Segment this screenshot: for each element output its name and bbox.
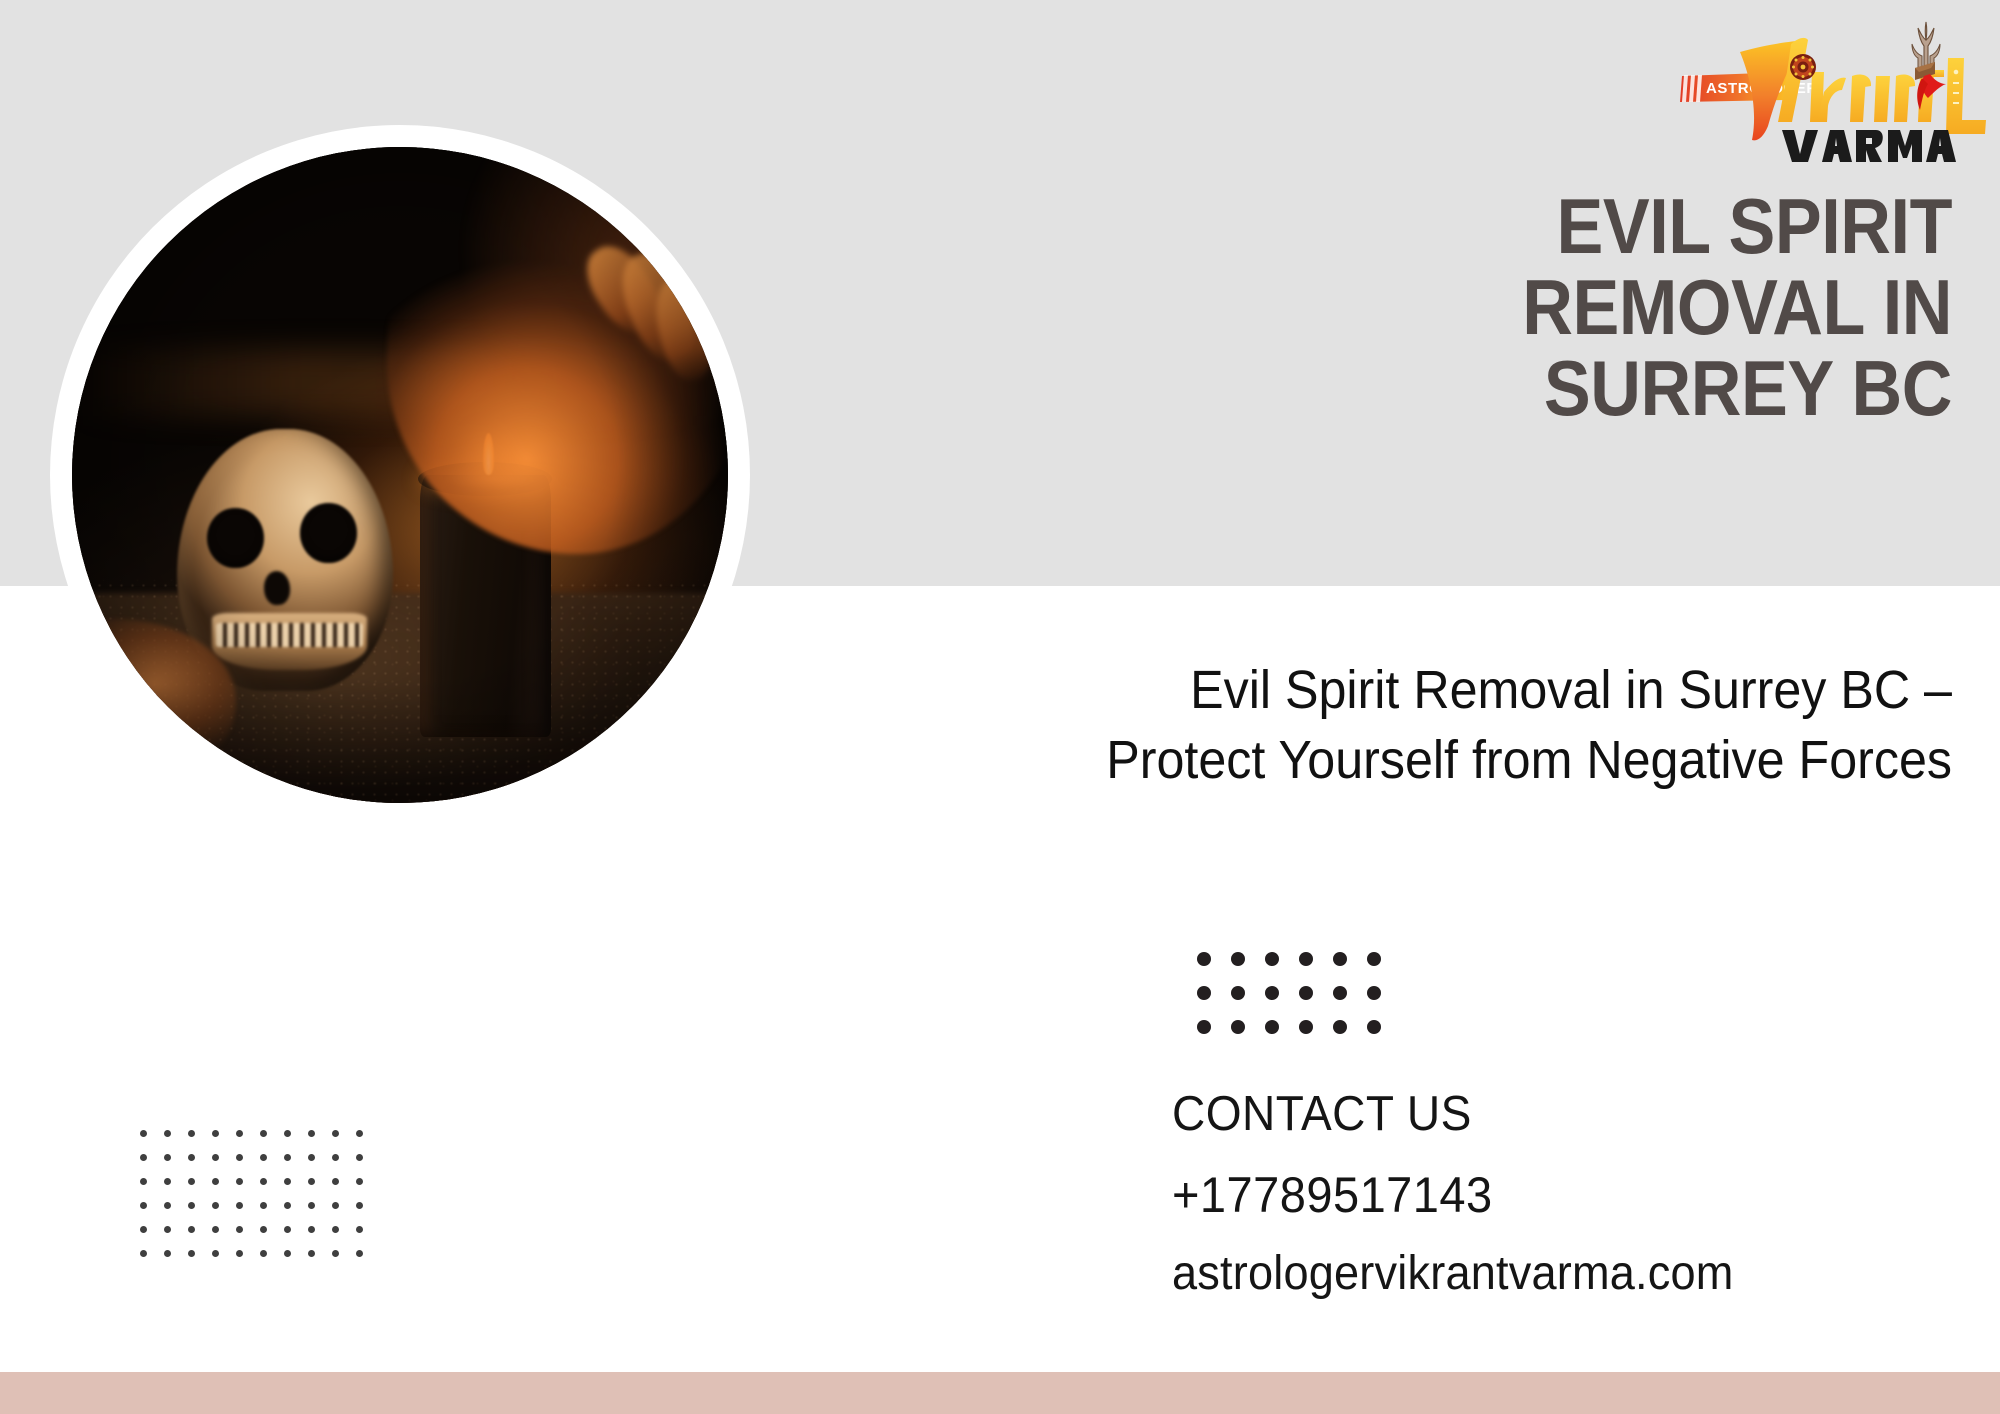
dot	[308, 1154, 315, 1161]
logo-varma-wordmark	[1782, 130, 1956, 162]
logo-artwork: ASTROLOGER	[1672, 14, 1992, 164]
photo-vignette	[72, 147, 728, 803]
trident-icon	[1912, 22, 1946, 110]
dot	[140, 1202, 147, 1209]
dot	[308, 1130, 315, 1137]
dot	[140, 1226, 147, 1233]
dot	[1299, 1020, 1313, 1034]
dot	[284, 1130, 291, 1137]
dot	[164, 1154, 171, 1161]
dot	[236, 1202, 243, 1209]
headline-line-2: REMOVAL IN	[1522, 263, 1952, 351]
dot	[1265, 986, 1279, 1000]
dot	[284, 1250, 291, 1257]
dot	[1197, 986, 1211, 1000]
dot	[260, 1202, 267, 1209]
photo-skull-candle	[72, 147, 728, 803]
dot	[1299, 986, 1313, 1000]
dot	[140, 1250, 147, 1257]
dot	[164, 1178, 171, 1185]
dot	[1231, 952, 1245, 966]
dot	[1197, 1020, 1211, 1034]
dot	[212, 1202, 219, 1209]
dot	[308, 1250, 315, 1257]
dot	[188, 1130, 195, 1137]
dot	[260, 1130, 267, 1137]
dot	[1231, 1020, 1245, 1034]
footer-accent-bar	[0, 1372, 2000, 1414]
dot	[332, 1178, 339, 1185]
dot	[1333, 986, 1347, 1000]
dot	[188, 1202, 195, 1209]
dot	[1333, 1020, 1347, 1034]
dot	[164, 1202, 171, 1209]
dot	[260, 1250, 267, 1257]
dot	[1231, 986, 1245, 1000]
dot	[284, 1154, 291, 1161]
dot	[188, 1250, 195, 1257]
dot	[308, 1202, 315, 1209]
dot	[284, 1178, 291, 1185]
dot	[308, 1178, 315, 1185]
dot	[356, 1178, 363, 1185]
dot	[164, 1250, 171, 1257]
dot	[1197, 952, 1211, 966]
dot	[1265, 952, 1279, 966]
dot	[236, 1178, 243, 1185]
dot	[1367, 952, 1381, 966]
dot	[188, 1154, 195, 1161]
dot	[236, 1250, 243, 1257]
brand-logo[interactable]: ASTROLOGER	[1672, 14, 1992, 164]
dot	[1367, 1020, 1381, 1034]
headline-line-3: SURREY BC	[1544, 344, 1952, 432]
contact-website[interactable]: astrologervikrantvarma.com	[1172, 1246, 1868, 1301]
dot	[212, 1178, 219, 1185]
dot	[188, 1178, 195, 1185]
dot	[212, 1226, 219, 1233]
dot	[356, 1226, 363, 1233]
dot	[236, 1154, 243, 1161]
circular-photo-frame	[50, 125, 750, 825]
dot	[284, 1226, 291, 1233]
contact-phone[interactable]: +17789517143	[1172, 1166, 1868, 1224]
dot	[164, 1130, 171, 1137]
dot	[356, 1250, 363, 1257]
dot	[356, 1202, 363, 1209]
dot	[260, 1178, 267, 1185]
dot	[212, 1130, 219, 1137]
dot	[260, 1226, 267, 1233]
dot	[332, 1130, 339, 1137]
dot	[332, 1250, 339, 1257]
photo-scene	[72, 147, 728, 803]
dot	[308, 1226, 315, 1233]
dot	[236, 1130, 243, 1137]
dot-grid-contact	[1197, 952, 1401, 1054]
logo-final-glyph	[1946, 58, 1986, 134]
dot	[332, 1226, 339, 1233]
headline-line-1: EVIL SPIRIT	[1556, 182, 1952, 270]
dot	[140, 1130, 147, 1137]
dot	[260, 1154, 267, 1161]
contact-block: CONTACT US +17789517143 astrologervikran…	[1172, 1086, 1868, 1301]
dot	[164, 1226, 171, 1233]
dot	[332, 1202, 339, 1209]
contact-title: CONTACT US	[1172, 1086, 1868, 1142]
subheading: Evil Spirit Removal in Surrey BC – Prote…	[1041, 655, 1952, 795]
dot	[1265, 1020, 1279, 1034]
dot	[212, 1154, 219, 1161]
promo-banner: ASTROLOGER	[0, 0, 2000, 1414]
dot	[356, 1154, 363, 1161]
dot	[140, 1154, 147, 1161]
dot	[1367, 986, 1381, 1000]
dot	[140, 1178, 147, 1185]
dot	[1333, 952, 1347, 966]
dot	[212, 1250, 219, 1257]
chakra-icon	[1790, 54, 1816, 80]
page-title: EVIL SPIRIT REMOVAL IN SURREY BC	[1052, 186, 1952, 429]
dot	[356, 1130, 363, 1137]
dot	[188, 1226, 195, 1233]
dot	[284, 1202, 291, 1209]
dot	[236, 1226, 243, 1233]
dot-grid-decoration	[140, 1130, 380, 1274]
dot	[1299, 952, 1313, 966]
dot	[332, 1154, 339, 1161]
